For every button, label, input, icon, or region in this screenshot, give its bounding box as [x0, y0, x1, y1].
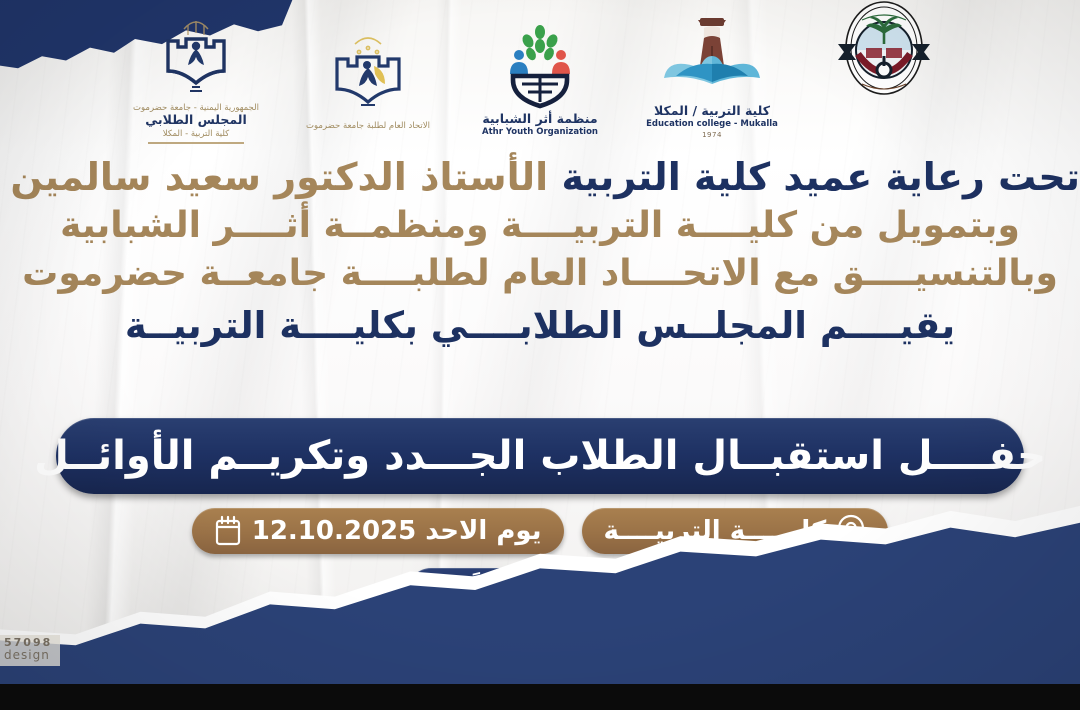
patronage-dean-name: الأستاذ الدكتور سعيد سالمين بلعفير: [0, 155, 548, 199]
education-college-icon: [658, 12, 766, 104]
student-council-icon: [154, 10, 238, 102]
logo-divider: [148, 142, 244, 144]
calendar-icon: [214, 515, 242, 547]
event-title-banner-wrap: حفــــل استقبــال الطلاب الجـــدد وتكريـ…: [0, 418, 1080, 494]
date-pill-label: يوم الاحد 12.10.2025: [252, 516, 542, 546]
logo-caption-sub: كلية التربية - المكلا: [163, 129, 229, 139]
logo-caption-ar: منظمة أثر الشبابية: [482, 112, 597, 126]
designer-watermark: 57098 design: [0, 635, 60, 666]
students-union-icon: [325, 28, 411, 120]
bottom-letterbox-bar: [0, 684, 1080, 710]
headline-line-coordination: وبالتنسيــــق مع الاتحــــاد العام لطلبـ…: [0, 256, 1080, 293]
logo-row: الجمهورية اليمنية - جامعة حضرموت المجلس …: [0, 6, 1080, 156]
logo-caption-en: Athr Youth Organization: [482, 127, 598, 137]
event-poster: الجمهورية اليمنية - جامعة حضرموت المجلس …: [0, 0, 1080, 710]
headline-block: تحت رعاية عميد كلية التربية الأستاذ الدك…: [0, 158, 1080, 345]
logo-caption-year: 1974: [702, 131, 722, 139]
logo-caption-ar: المجلس الطلابي: [145, 113, 246, 127]
patronage-prefix: تحت رعاية عميد كلية التربية: [548, 155, 1080, 199]
logo-hadhramout-university: [809, 2, 959, 94]
headline-line-organizer: يقيــــم المجلــس الطلابــــي بكليــــة …: [0, 307, 1080, 345]
logo-student-council: الجمهورية اليمنية - جامعة حضرموت المجلس …: [121, 6, 271, 144]
logo-caption-ar: كلية التربية / المكلا: [654, 104, 770, 118]
headline-line-funding: وبتمويل من كليــــة التربيــــة ومنظمــة…: [0, 208, 1080, 245]
logo-caption-en: Education college - Mukalla: [646, 119, 778, 129]
logo-education-college: كلية التربية / المكلا Education college …: [637, 12, 787, 139]
athr-youth-icon: [497, 20, 583, 112]
event-title-banner: حفــــل استقبــال الطلاب الجـــدد وتكريـ…: [56, 418, 1024, 494]
logo-students-union: الاتحاد العام لطلبة جامعة حضرموت: [293, 28, 443, 131]
headline-line-patronage: تحت رعاية عميد كلية التربية الأستاذ الدك…: [0, 158, 1080, 197]
hadhramout-university-icon: [832, 2, 936, 94]
logo-caption-sub: الاتحاد العام لطلبة جامعة حضرموت: [306, 121, 430, 131]
watermark-line-2: design: [4, 649, 52, 663]
logo-athr-youth: منظمة أثر الشبابية Athr Youth Organizati…: [465, 20, 615, 138]
date-pill: يوم الاحد 12.10.2025: [192, 508, 564, 554]
